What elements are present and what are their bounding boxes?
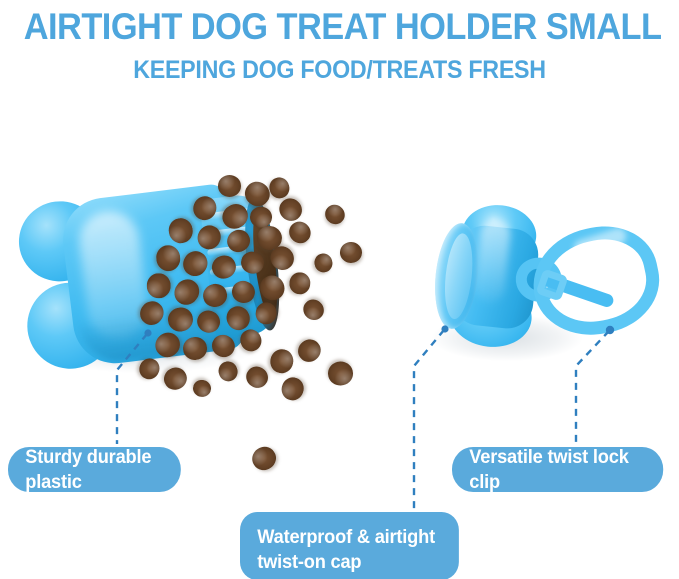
callout-sturdy-durable-plastic[interactable]: Sturdy durable plastic: [8, 447, 181, 492]
kibble-piece: [147, 273, 171, 298]
kibble-piece: [218, 175, 241, 197]
callout-waterproof-airtight-twist-on-cap[interactable]: Waterproof & airtight twist-on cap: [240, 512, 459, 579]
kibble-piece: [289, 272, 311, 295]
callout-label: Versatile twist lock clip: [469, 445, 646, 495]
page-title: AIRTIGHT DOG TREAT HOLDER SMALL: [24, 6, 655, 48]
page-subtitle: KEEPING DOG FOOD/TREATS FRESH: [24, 56, 655, 85]
kibble-piece: [242, 363, 272, 393]
kibble-piece: [216, 359, 240, 384]
kibble-piece: [285, 217, 315, 247]
kibble-piece: [248, 442, 281, 474]
kibble-piece: [328, 362, 354, 386]
kibble-piece: [321, 201, 348, 228]
callout-versatile-twist-lock-clip[interactable]: Versatile twist lock clip: [452, 447, 663, 492]
kibble-piece: [313, 252, 335, 275]
kibble-piece: [192, 379, 212, 398]
callout-label: Waterproof & airtight twist-on cap: [257, 525, 435, 575]
product-infographic: AIRTIGHT DOG TREAT HOLDER SMALL KEEPING …: [0, 0, 679, 579]
bottle-body: [12, 170, 283, 384]
product-photo-stage: [0, 100, 679, 579]
kibble-piece: [299, 295, 328, 324]
kibble-piece: [267, 175, 292, 201]
kibble-piece: [339, 241, 362, 263]
carabiner-clip: [533, 228, 661, 338]
callout-label: Sturdy durable plastic: [25, 445, 163, 495]
kibble-piece: [294, 335, 325, 366]
kibble-piece: [279, 374, 307, 403]
